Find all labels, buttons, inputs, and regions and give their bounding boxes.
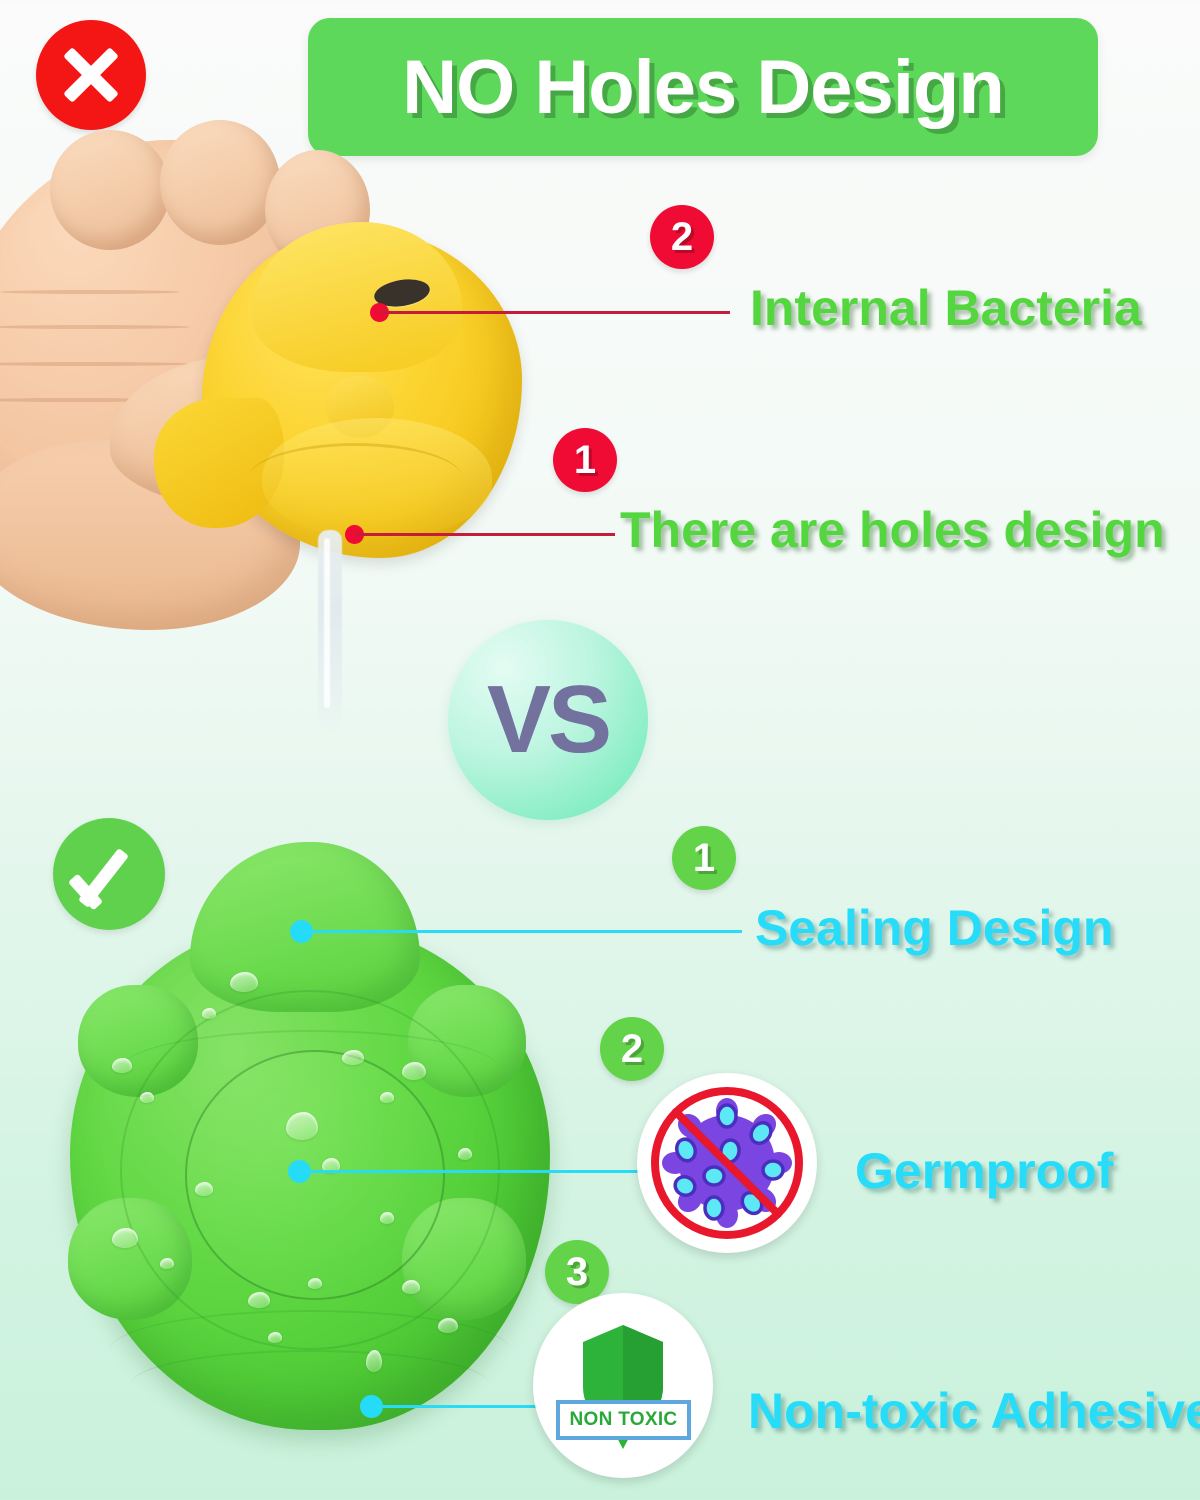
water-droplet xyxy=(380,1212,394,1224)
water-droplet xyxy=(366,1350,382,1372)
callout-number-good-1: 1 xyxy=(672,826,736,890)
hand-crease xyxy=(0,290,180,294)
water-droplet xyxy=(140,1092,154,1103)
callout-line-bad-1 xyxy=(355,533,615,536)
callout-number-bad-1: 1 xyxy=(553,428,617,492)
title-banner: NO Holes Design xyxy=(308,18,1098,156)
water-droplet xyxy=(308,1278,322,1289)
water-droplet xyxy=(248,1292,270,1308)
x-mark-icon xyxy=(36,20,146,130)
knuckle xyxy=(160,120,280,245)
water-droplet xyxy=(380,1092,394,1103)
callout-line-good-1 xyxy=(302,930,742,933)
water-droplet xyxy=(112,1058,132,1073)
water-droplet xyxy=(195,1182,213,1196)
callout-label-holes-design: There are holes design xyxy=(620,501,1165,559)
callout-number-good-3: 3 xyxy=(545,1240,609,1304)
callout-label-non-toxic-adhesive: Non-toxic Adhesive xyxy=(748,1382,1200,1440)
water-droplet xyxy=(230,972,258,992)
non-toxic-label: NON TOXIC xyxy=(556,1400,691,1440)
green-toy-seam xyxy=(120,1030,500,1110)
water-stream xyxy=(318,530,342,730)
water-droplet xyxy=(402,1062,426,1080)
hand-crease xyxy=(0,325,190,329)
water-droplet xyxy=(112,1228,138,1248)
callout-line-bad-2 xyxy=(380,311,730,314)
water-droplet xyxy=(160,1258,174,1269)
infographic-stage: NO Holes Design 2 Internal Bacteria 1 Th… xyxy=(0,0,1200,1500)
yellow-duck-toy xyxy=(202,228,522,558)
no-germs-icon xyxy=(637,1073,817,1253)
callout-label-internal-bacteria: Internal Bacteria xyxy=(750,279,1142,337)
bad-product-photo xyxy=(0,140,530,640)
callout-label-germproof: Germproof xyxy=(855,1142,1113,1200)
water-droplet xyxy=(286,1112,318,1140)
page-title: NO Holes Design xyxy=(402,44,1004,131)
callout-number-good-2: 2 xyxy=(600,1017,664,1081)
duck-seam xyxy=(248,443,463,515)
callout-number-bad-2: 2 xyxy=(650,205,714,269)
water-droplet xyxy=(438,1318,458,1333)
vs-divider: VS xyxy=(448,620,648,820)
water-droplet xyxy=(458,1148,472,1160)
non-toxic-shield-icon: NON TOXIC xyxy=(533,1293,713,1478)
water-droplet xyxy=(268,1332,282,1343)
vs-label: VS xyxy=(487,665,609,775)
green-toy-seam xyxy=(130,1350,490,1420)
knuckle xyxy=(50,130,170,250)
good-product-photo xyxy=(50,880,590,1470)
callout-label-sealing-design: Sealing Design xyxy=(755,899,1113,957)
water-droplet xyxy=(202,1008,216,1019)
callout-line-good-2 xyxy=(300,1170,650,1173)
water-droplet xyxy=(402,1280,420,1294)
water-droplet xyxy=(342,1050,364,1065)
